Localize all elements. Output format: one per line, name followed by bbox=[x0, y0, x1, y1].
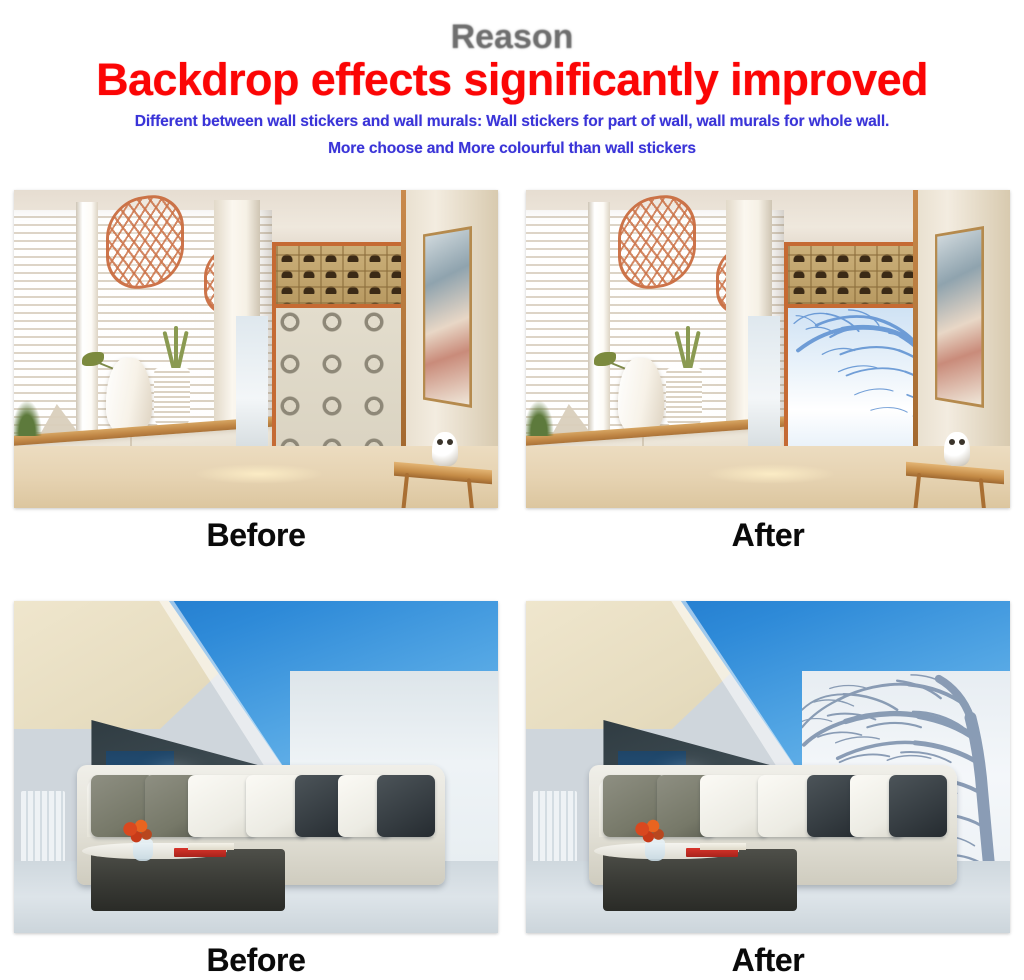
small-plant bbox=[14, 400, 42, 436]
floor-light-reflection bbox=[706, 464, 836, 484]
dog-figurine bbox=[944, 432, 970, 466]
book bbox=[700, 843, 746, 850]
framed-picture bbox=[935, 226, 984, 408]
living-room-before-scene bbox=[14, 601, 498, 933]
flowers bbox=[632, 817, 666, 847]
living-room-after-photo bbox=[526, 601, 1010, 933]
dog-figurine bbox=[432, 432, 458, 466]
book bbox=[188, 843, 234, 850]
hallway-after-cell: After bbox=[526, 190, 1010, 555]
cushion bbox=[889, 775, 947, 837]
caption-after: After bbox=[526, 940, 1010, 980]
doorway bbox=[236, 316, 268, 466]
floor-light-reflection bbox=[194, 464, 324, 484]
page-title: Backdrop effects significantly improved bbox=[0, 56, 1024, 103]
small-plant bbox=[526, 400, 554, 436]
hallway-before-cell: Before bbox=[14, 190, 498, 555]
living-room-before-photo bbox=[14, 601, 498, 933]
hallway-after-photo bbox=[526, 190, 1010, 508]
hallway-after-scene bbox=[526, 190, 1010, 508]
comparison-grid: Before bbox=[0, 190, 1024, 980]
comparison-row-hallway: Before bbox=[0, 190, 1024, 555]
caption-after: After bbox=[526, 515, 1010, 555]
caption-before: Before bbox=[14, 940, 498, 980]
caption-before: Before bbox=[14, 515, 498, 555]
living-room-after-scene bbox=[526, 601, 1010, 933]
hallway-before-photo bbox=[14, 190, 498, 508]
ribbed-vase bbox=[666, 368, 702, 426]
flowers bbox=[120, 817, 154, 847]
comparison-row-living-room: Before bbox=[0, 601, 1024, 980]
framed-picture bbox=[423, 226, 472, 408]
doorway bbox=[748, 316, 780, 466]
subtitle-line-1: Different between wall stickers and wall… bbox=[0, 109, 1024, 136]
ribbed-vase bbox=[154, 368, 190, 426]
living-room-before-cell: Before bbox=[14, 601, 498, 980]
living-room-after-cell: After bbox=[526, 601, 1010, 980]
kicker-text: Reason bbox=[0, 20, 1024, 54]
white-vase bbox=[106, 358, 152, 436]
white-vase bbox=[618, 358, 664, 436]
hallway-before-scene bbox=[14, 190, 498, 508]
subtitle-line-2: More choose and More colourful than wall… bbox=[0, 136, 1024, 163]
cushion bbox=[377, 775, 435, 837]
subtitle-block: Different between wall stickers and wall… bbox=[0, 109, 1024, 163]
header-block: Reason Backdrop effects significantly im… bbox=[0, 0, 1024, 163]
